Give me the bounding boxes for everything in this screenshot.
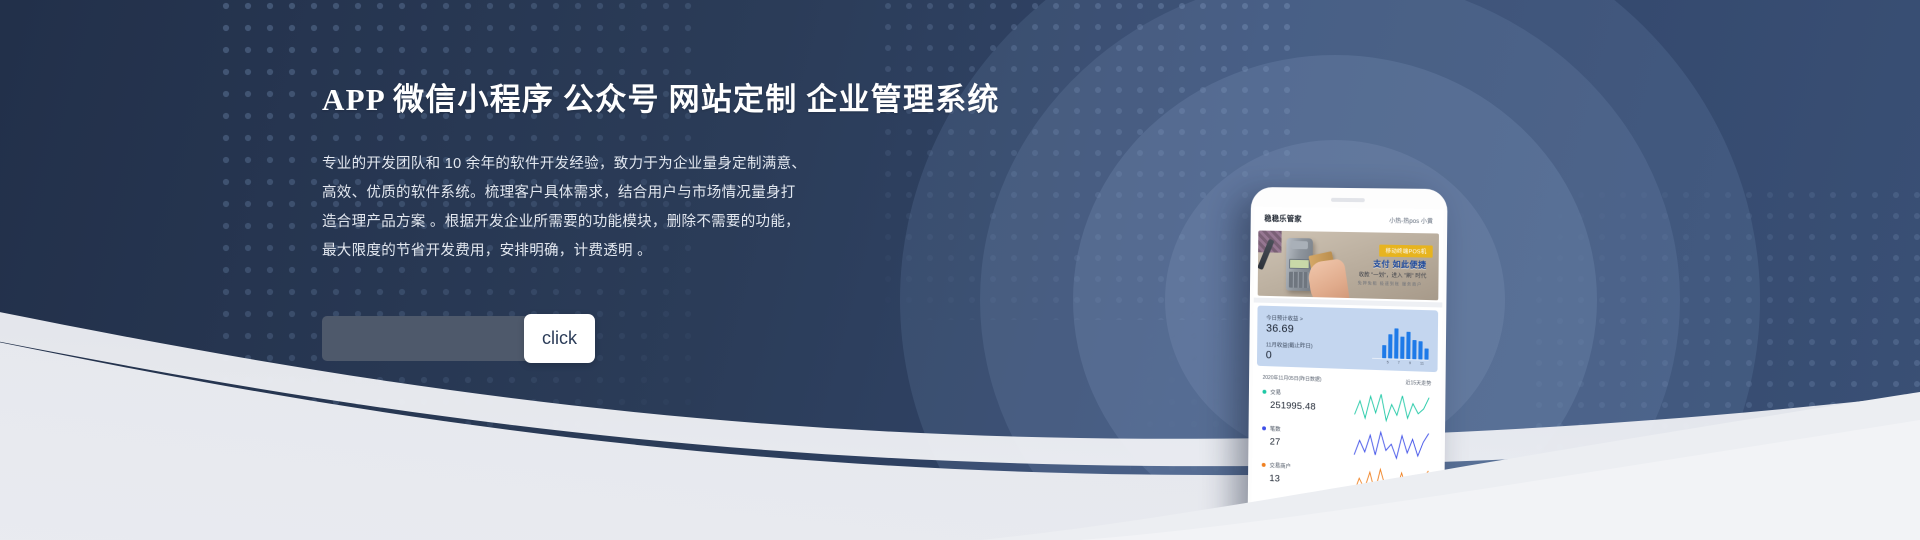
bar	[1424, 349, 1429, 360]
sparkline-chart	[1352, 428, 1431, 462]
axis-tick: 11	[1420, 361, 1424, 365]
metric-value: 13	[1269, 473, 1352, 488]
banner-subline: 收款 "一划"，进入 "刷" 时代	[1359, 270, 1427, 280]
phone-body: 稳稳乐管家 小热-热pos 小黄 移动终端POS机 支付 如此便捷	[1247, 187, 1447, 540]
hand-image	[1306, 258, 1349, 300]
axis-tick: 9	[1409, 361, 1411, 365]
bar	[1400, 337, 1405, 359]
status-dot	[1262, 426, 1266, 430]
metrics-list: 交易251995.48笔数27交易商户13	[1252, 384, 1442, 503]
cta-group: click	[322, 316, 565, 361]
bar	[1388, 334, 1393, 359]
click-button[interactable]: click	[524, 314, 595, 363]
app-title: 稳稳乐管家	[1264, 212, 1302, 223]
description-line-3: 造合理产品方案 。根据开发企业所需要的功能模块，删除不需要的功能，	[322, 208, 942, 237]
axis-tick: 5	[1387, 360, 1389, 364]
hero-banner: APP 微信小程序 公众号 网站定制 企业管理系统 专业的开发团队和 10 余年…	[0, 0, 1920, 540]
bar	[1406, 332, 1411, 359]
metrics-trend-label: 近15天走势	[1405, 379, 1431, 387]
banner-badge: 移动终端POS机	[1379, 245, 1432, 258]
bar	[1412, 340, 1417, 360]
metric-value: 251995.48	[1270, 400, 1353, 414]
description-line-2: 高效、优质的软件系统。梳理客户具体需求，结合用户与市场情况量身打	[322, 179, 942, 208]
description-line-4: 最大限度的节省开发费用，安排明确，计费透明 。	[322, 237, 942, 266]
metric-value: 27	[1270, 437, 1353, 452]
bar	[1394, 328, 1399, 358]
earnings-card[interactable]: 今日预计收益 > 36.69 11月收益(截止昨日) 0 57911	[1257, 306, 1438, 373]
phone-screen: 稳稳乐管家 小热-热pos 小黄 移动终端POS机 支付 如此便捷	[1251, 207, 1443, 540]
axis-tick: 7	[1398, 361, 1400, 365]
metrics-date-label: 2020年11月05日(昨日数据)	[1263, 374, 1322, 383]
metric-label: 笔数	[1270, 425, 1353, 437]
hero-content: APP 微信小程序 公众号 网站定制 企业管理系统 专业的开发团队和 10 余年…	[322, 0, 1022, 540]
phone-mockup: 稳稳乐管家 小热-热pos 小黄 移动终端POS机 支付 如此便捷	[1247, 187, 1447, 540]
app-header: 稳稳乐管家 小热-热pos 小黄	[1254, 207, 1443, 232]
status-dot	[1262, 463, 1266, 467]
metric-label: 交易	[1270, 388, 1353, 399]
promo-banner[interactable]: 移动终端POS机 支付 如此便捷 收款 "一划"，进入 "刷" 时代 免押免租 …	[1258, 231, 1439, 301]
banner-headline: 支付 如此便捷	[1373, 259, 1426, 271]
metric-row[interactable]: 交易商户13	[1252, 457, 1441, 503]
sparkline-chart	[1352, 465, 1431, 499]
page-title: APP 微信小程序 公众号 网站定制 企业管理系统	[322, 74, 1000, 119]
earnings-bar-chart	[1382, 328, 1429, 360]
phone-speaker	[1331, 198, 1365, 202]
bar	[1382, 345, 1387, 358]
app-user-label: 小热-热pos 小黄	[1389, 215, 1433, 225]
description-line-1: 专业的开发团队和 10 余年的软件开发经验，致力于为企业量身定制满意、	[322, 150, 942, 179]
bar	[1418, 341, 1423, 359]
hero-description: 专业的开发团队和 10 余年的软件开发经验，致力于为企业量身定制满意、 高效、优…	[322, 150, 942, 266]
status-dot	[1262, 390, 1266, 394]
metric-label: 交易商户	[1269, 461, 1352, 473]
sparkline-chart	[1353, 391, 1432, 424]
